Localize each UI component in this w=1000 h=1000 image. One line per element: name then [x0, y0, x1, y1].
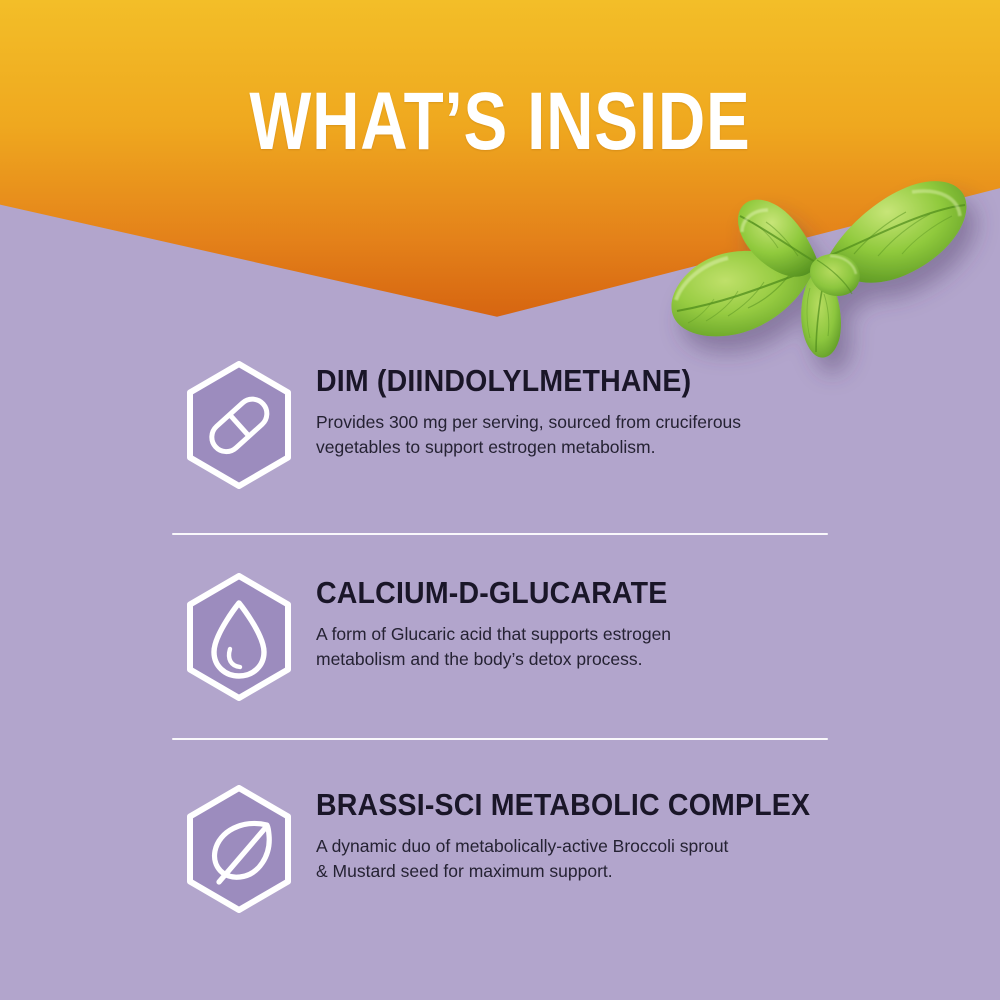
ingredient-heading: BRASSI-SCI METABOLIC COMPLEX [316, 788, 945, 822]
ingredient-row-calcium-d-glucarate: CALCIUM-D-GLUCARATE A form of Glucaric a… [0, 562, 1000, 712]
description-line: metabolism and the body’s detox process. [316, 647, 816, 672]
ingredient-text-block: BRASSI-SCI METABOLIC COMPLEX A dynamic d… [316, 774, 1000, 884]
water-droplet-icon [183, 573, 295, 701]
description-line: A dynamic duo of metabolically-active Br… [316, 834, 816, 859]
leaf-icon [183, 785, 295, 913]
description-line: vegetables to support estrogen metabolis… [316, 435, 816, 460]
ingredient-description: A form of Glucaric acid that supports es… [316, 622, 816, 672]
ingredient-icon-badge [180, 562, 298, 712]
ingredient-icon-badge [180, 774, 298, 924]
ingredient-row-brassi-sci: BRASSI-SCI METABOLIC COMPLEX A dynamic d… [0, 774, 1000, 924]
description-line: Provides 300 mg per serving, sourced fro… [316, 410, 816, 435]
description-line: A form of Glucaric acid that supports es… [316, 622, 816, 647]
basil-sprig [640, 150, 1000, 365]
ingredient-row-dim: DIM (DIINDOLYLMETHANE) Provides 300 mg p… [0, 350, 1000, 500]
ingredient-heading: DIM (DIINDOLYLMETHANE) [316, 364, 945, 398]
ingredient-description: A dynamic duo of metabolically-active Br… [316, 834, 816, 884]
infographic-canvas: WHAT’S INSIDE [0, 0, 1000, 1000]
ingredient-heading: CALCIUM-D-GLUCARATE [316, 576, 945, 610]
pill-capsule-icon [183, 361, 295, 489]
ingredient-text-block: CALCIUM-D-GLUCARATE A form of Glucaric a… [316, 562, 1000, 672]
ingredient-description: Provides 300 mg per serving, sourced fro… [316, 410, 816, 460]
ingredient-list: DIM (DIINDOLYLMETHANE) Provides 300 mg p… [0, 350, 1000, 924]
ingredient-icon-badge [180, 350, 298, 500]
ingredient-text-block: DIM (DIINDOLYLMETHANE) Provides 300 mg p… [316, 350, 1000, 460]
description-line: & Mustard seed for maximum support. [316, 859, 816, 884]
